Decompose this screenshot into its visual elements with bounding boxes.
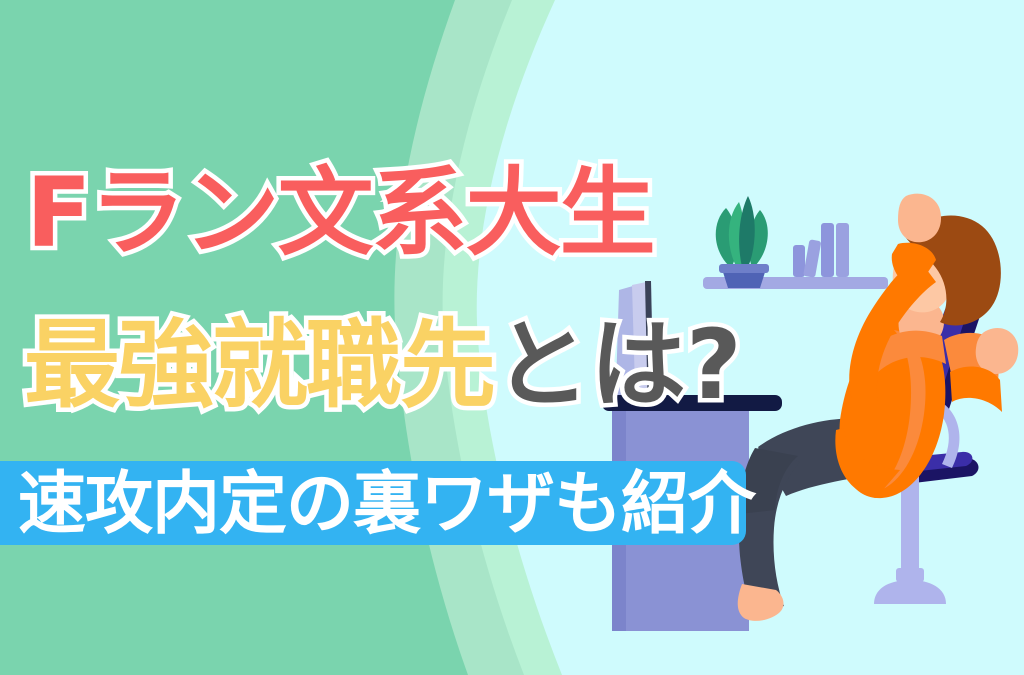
headline-line-1: Fラン文系大生 — [26, 158, 654, 268]
subhead-banner-text: 速攻内定の裏ワザも紹介 — [18, 466, 755, 544]
headline-group: Fラン文系大生 最強就職先とは? 速攻内定の裏ワザも紹介 — [0, 0, 1024, 675]
headline-line-2: 最強就職先とは? — [24, 310, 742, 420]
headline-line-2-highlight: 最強就職先 — [24, 309, 494, 421]
headline-line-2-rest: とは? — [494, 309, 742, 421]
thumbnail-canvas: Fラン文系大生 最強就職先とは? 速攻内定の裏ワザも紹介 — [0, 0, 1024, 675]
